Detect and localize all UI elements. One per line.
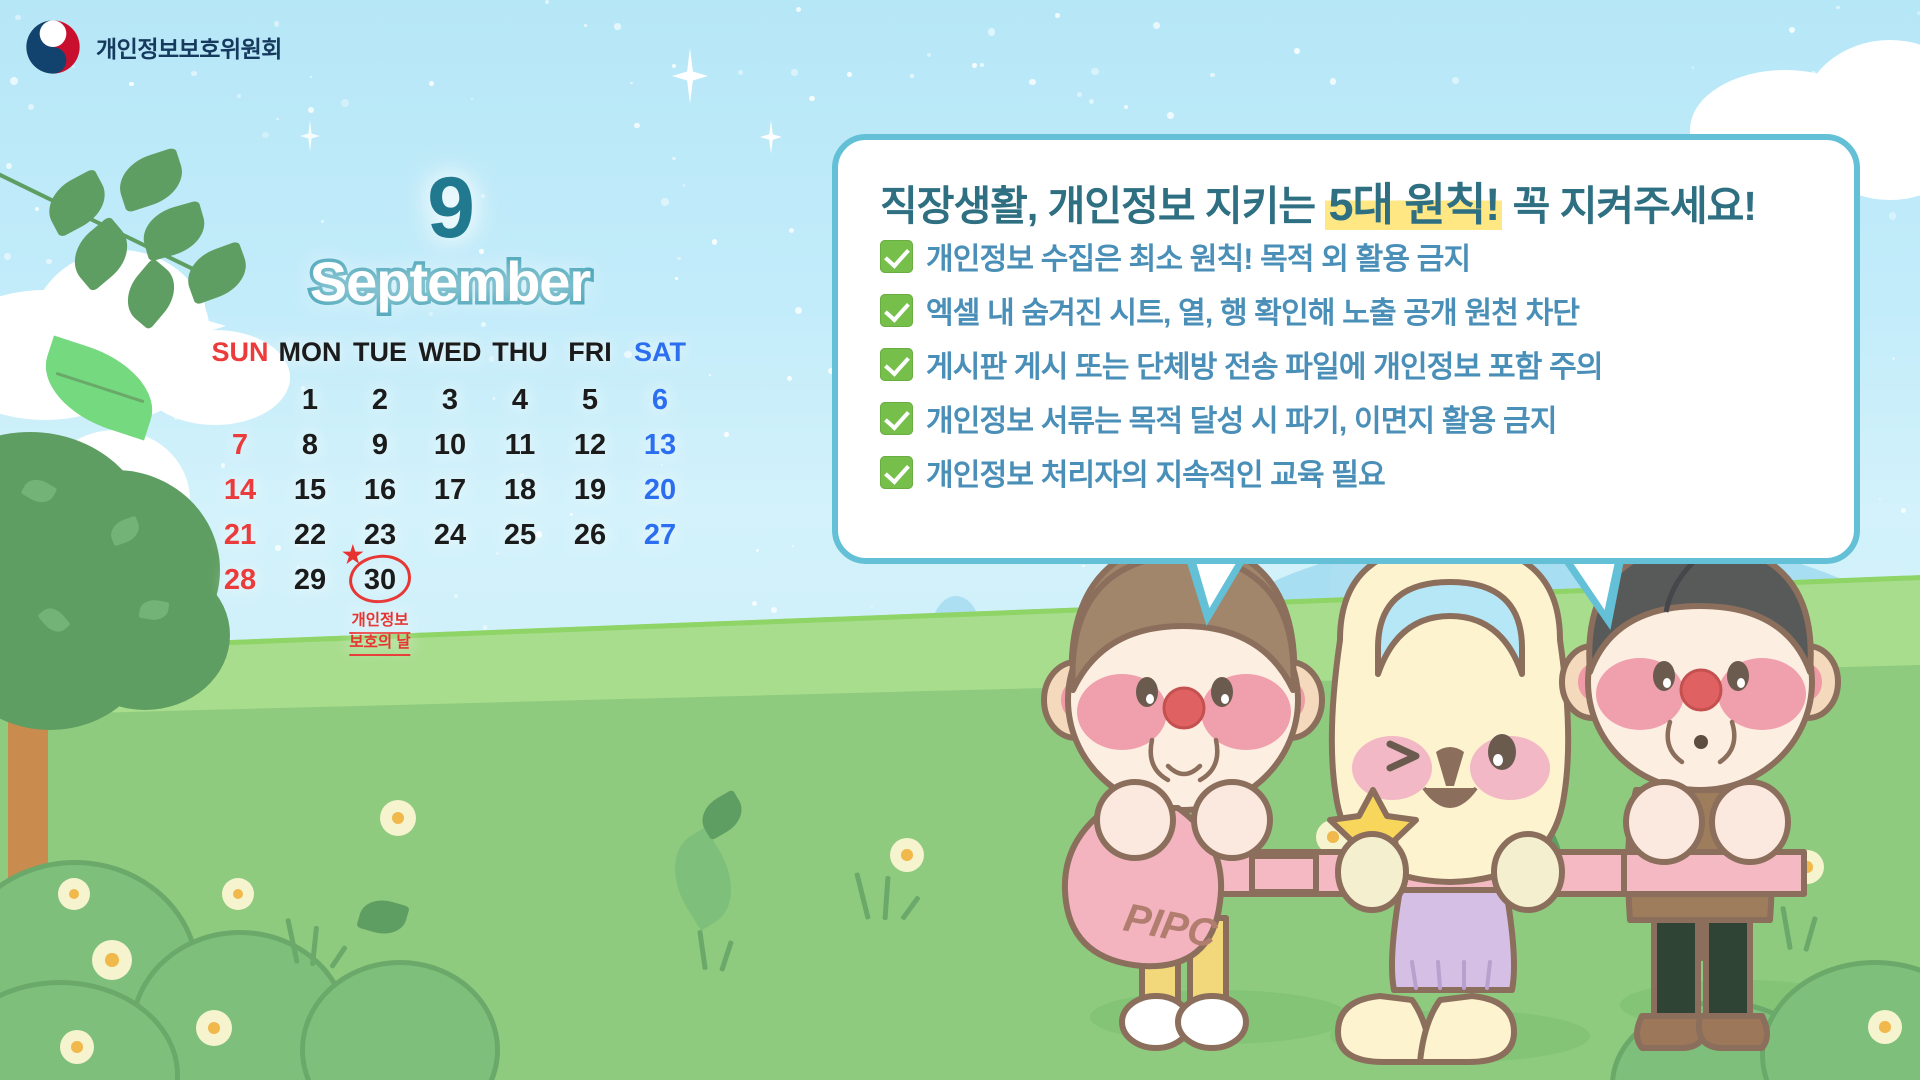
tip-label: 엑셀 내 숨겨진 시트, 열, 행 확인해 노출 공개 원천 차단 [926, 288, 1579, 332]
calendar-month-name: September [190, 251, 710, 313]
calendar-day[interactable]: 12 [555, 423, 625, 468]
sky-speck [584, 24, 587, 27]
sky-speck [789, 228, 795, 234]
bubble-title-highlight: 5대 원칙! [1325, 179, 1502, 230]
flower-icon-5 [890, 838, 924, 872]
sky-speck [129, 82, 134, 87]
calendar-grid: SUN MON TUE WED THU FRI SAT 1 2 3 4 5 [205, 335, 695, 603]
privacy-day-note: 개인정보 보호의 날 [349, 612, 410, 656]
calendar-day[interactable]: 29 [275, 558, 345, 603]
sky-speck [1879, 498, 1881, 500]
sky-speck [756, 549, 759, 552]
flower-icon-3 [60, 1030, 94, 1064]
sky-speck [927, 53, 930, 56]
flower-icon-2 [196, 1010, 232, 1046]
sky-speck [1330, 78, 1337, 85]
character-shadow-left [1090, 990, 1350, 1044]
list-item: 개인정보 처리자의 지속적인 교육 필요 [880, 452, 1830, 492]
sky-speck [429, 81, 434, 86]
site-logo[interactable]: 개인정보보호위원회 [24, 18, 282, 76]
sky-speck [791, 69, 798, 76]
list-item: 엑셀 내 숨겨진 시트, 열, 행 확인해 노출 공개 원천 차단 [880, 290, 1830, 330]
calendar-week-row: 1 2 3 4 5 6 [205, 378, 695, 423]
weekday-header-mon: MON [275, 335, 345, 378]
weekday-header-tue: TUE [345, 335, 415, 378]
privacy-day-note-line2: 보호의 날 [349, 634, 410, 656]
calendar-day[interactable]: 19 [555, 468, 625, 513]
weekday-header-sat: SAT [625, 335, 695, 378]
sky-speck [310, 76, 312, 78]
calendar-day[interactable]: 11 [485, 423, 555, 468]
calendar-day [485, 558, 555, 603]
sky-speck [1091, 68, 1098, 75]
list-item: 게시판 게시 또는 단체방 전송 파일에 개인정보 포함 주의 [880, 344, 1830, 384]
sky-speck [796, 7, 801, 12]
weekday-header-fri: FRI [555, 335, 625, 378]
sky-speck [10, 77, 18, 85]
tip-label: 개인정보 처리자의 지속적인 교육 필요 [926, 450, 1385, 494]
calendar-day[interactable]: 4 [485, 378, 555, 423]
sky-speck [1029, 79, 1035, 85]
calendar-day[interactable]: 14 [205, 468, 275, 513]
calendar-widget: 9 September SUN MON TUE WED THU FRI SAT … [190, 170, 710, 603]
calendar-day[interactable]: 27 [625, 513, 695, 558]
calendar-day [625, 558, 695, 603]
organization-name: 개인정보보호위원회 [96, 30, 282, 64]
sky-speck [614, 23, 620, 29]
calendar-day[interactable]: 8 [275, 423, 345, 468]
calendar-week-row: 28 29 30 개인정보 보호의 날 [205, 558, 695, 603]
calendar-week-row: 7 8 9 10 11 12 13 [205, 423, 695, 468]
sky-speck [1452, 77, 1460, 85]
sky-speck [1294, 48, 1300, 54]
calendar-day[interactable]: 21 [205, 513, 275, 558]
sky-speck [262, 132, 269, 139]
sky-speck [792, 545, 794, 547]
calendar-day[interactable] [205, 378, 275, 423]
sky-speck [752, 601, 758, 607]
sky-speck [1692, 66, 1694, 68]
poster-canvas: .ol { stroke:#8b6f5c; stroke-width:6; st… [0, 0, 1920, 1080]
calendar-header-row: SUN MON TUE WED THU FRI SAT [205, 335, 695, 378]
weekday-header-wed: WED [415, 335, 485, 378]
calendar-day[interactable]: 6 [625, 378, 695, 423]
bubble-title-after: 꼭 지켜주세요! [1502, 183, 1756, 229]
sky-speck [795, 307, 802, 314]
calendar-day[interactable]: 7 [205, 423, 275, 468]
flower-icon-8 [1868, 1010, 1902, 1044]
sky-speck [972, 63, 977, 68]
weekday-header-thu: THU [485, 335, 555, 378]
sky-speck [787, 376, 792, 381]
sky-speck [847, 72, 853, 78]
calendar-day [555, 558, 625, 603]
tips-speech-bubble: 직장생활, 개인정보 지키는 5대 원칙! 꼭 지켜주세요! 개인정보 수집은 … [832, 134, 1860, 564]
calendar-day[interactable]: 10 [415, 423, 485, 468]
green-checkbox-icon [880, 456, 913, 489]
tips-list: 개인정보 수집은 최소 원칙! 목적 외 활용 금지 엑셀 내 숨겨진 시트, … [880, 236, 1830, 506]
sky-speck [771, 607, 777, 613]
green-checkbox-icon [880, 348, 913, 381]
sky-speck [1153, 22, 1160, 29]
calendar-day-30-number: 30 [364, 564, 396, 596]
flower-icon-7 [1790, 850, 1824, 884]
sky-speck [738, 70, 744, 76]
sky-speck [712, 239, 718, 245]
sky-speck [1210, 73, 1214, 77]
sky-speck [634, 123, 639, 128]
sky-speck [672, 64, 676, 68]
sky-speck [471, 98, 473, 100]
flower-icon-1 [92, 940, 132, 980]
flower-icon-6 [1316, 820, 1350, 854]
bubble-title-before: 직장생활, 개인정보 지키는 [880, 183, 1325, 229]
sky-speck [1901, 508, 1906, 513]
calendar-day-highlighted[interactable]: 30 개인정보 보호의 날 [345, 558, 415, 603]
sky-speck [483, 625, 488, 630]
calendar-day [415, 558, 485, 603]
sky-speck [871, 606, 874, 609]
sky-speck [1892, 357, 1895, 360]
calendar-day[interactable]: 15 [275, 468, 345, 513]
sky-speck [1836, 6, 1840, 10]
calendar-day[interactable]: 28 [205, 558, 275, 603]
taegeuk-logo-icon [24, 18, 82, 76]
calendar-day[interactable]: 13 [625, 423, 695, 468]
sky-speck [630, 82, 633, 85]
calendar-day[interactable]: 1 [275, 378, 345, 423]
tip-label: 개인정보 서류는 목적 달성 시 파기, 이면지 활용 금지 [926, 396, 1557, 440]
calendar-week-row: 14 15 16 17 18 19 20 [205, 468, 695, 513]
sky-speck [1167, 112, 1174, 119]
list-item: 개인정보 수집은 최소 원칙! 목적 외 활용 금지 [880, 236, 1830, 276]
sky-speck [276, 118, 278, 120]
weekday-header-sun: SUN [205, 335, 275, 378]
calendar-day[interactable]: 26 [555, 513, 625, 558]
green-checkbox-icon [880, 240, 913, 273]
sky-speck [341, 99, 349, 107]
tip-label: 개인정보 수집은 최소 원칙! 목적 외 활용 금지 [926, 234, 1470, 278]
sky-speck [910, 74, 914, 78]
calendar-month-number: 9 [190, 170, 710, 247]
privacy-day-note-line1: 개인정보 [349, 612, 410, 634]
sky-speck [545, 0, 549, 4]
sky-speck [1089, 99, 1094, 104]
calendar-day[interactable]: 24 [415, 513, 485, 558]
green-checkbox-icon [880, 294, 913, 327]
calendar-day[interactable]: 25 [485, 513, 555, 558]
sky-speck [1124, 105, 1128, 109]
calendar-day[interactable]: 2 [345, 378, 415, 423]
bubble-title: 직장생활, 개인정보 지키는 5대 원칙! 꼭 지켜주세요! [880, 168, 1824, 233]
sky-speck [809, 96, 814, 101]
calendar-day[interactable]: 5 [555, 378, 625, 423]
tip-label: 게시판 게시 또는 단체방 전송 파일에 개인정보 포함 주의 [926, 342, 1603, 386]
sky-speck [15, 15, 21, 21]
calendar-day[interactable]: 16 [345, 468, 415, 513]
sky-speck [1789, 27, 1795, 33]
sky-speck [1082, 565, 1084, 567]
leaf-decoration-left [40, 348, 160, 428]
sky-speck [980, 63, 984, 67]
calendar-day[interactable]: 22 [275, 513, 345, 558]
sky-speck [1055, 13, 1060, 18]
sky-speck [237, 94, 241, 98]
flower-icon-4 [380, 800, 416, 836]
sky-speck [724, 432, 729, 437]
green-checkbox-icon [880, 402, 913, 435]
sky-speck [1889, 212, 1897, 220]
calendar-day[interactable]: 3 [415, 378, 485, 423]
calendar-day[interactable]: 9 [345, 423, 415, 468]
leaf-decoration-bottom [660, 850, 750, 916]
calendar-week-row: 21 22 23 24 25 26 27 [205, 513, 695, 558]
sky-speck [988, 28, 996, 36]
character-shadow-mid [1330, 1010, 1590, 1062]
calendar-day[interactable]: 18 [485, 468, 555, 513]
calendar-day[interactable]: 20 [625, 468, 695, 513]
calendar-day[interactable]: 17 [415, 468, 485, 513]
sky-speck [308, 107, 314, 113]
calendar-day[interactable]: 23 [345, 513, 415, 558]
flower-icon-9 [222, 878, 254, 910]
flower-icon-10 [58, 878, 90, 910]
list-item: 개인정보 서류는 목적 달성 시 파기, 이면지 활용 금지 [880, 398, 1830, 438]
sky-speck [1077, 92, 1082, 97]
sky-speck [672, 157, 675, 160]
sky-speck [28, 104, 34, 110]
privacy-day-marker[interactable]: 30 개인정보 보호의 날 [364, 564, 396, 597]
